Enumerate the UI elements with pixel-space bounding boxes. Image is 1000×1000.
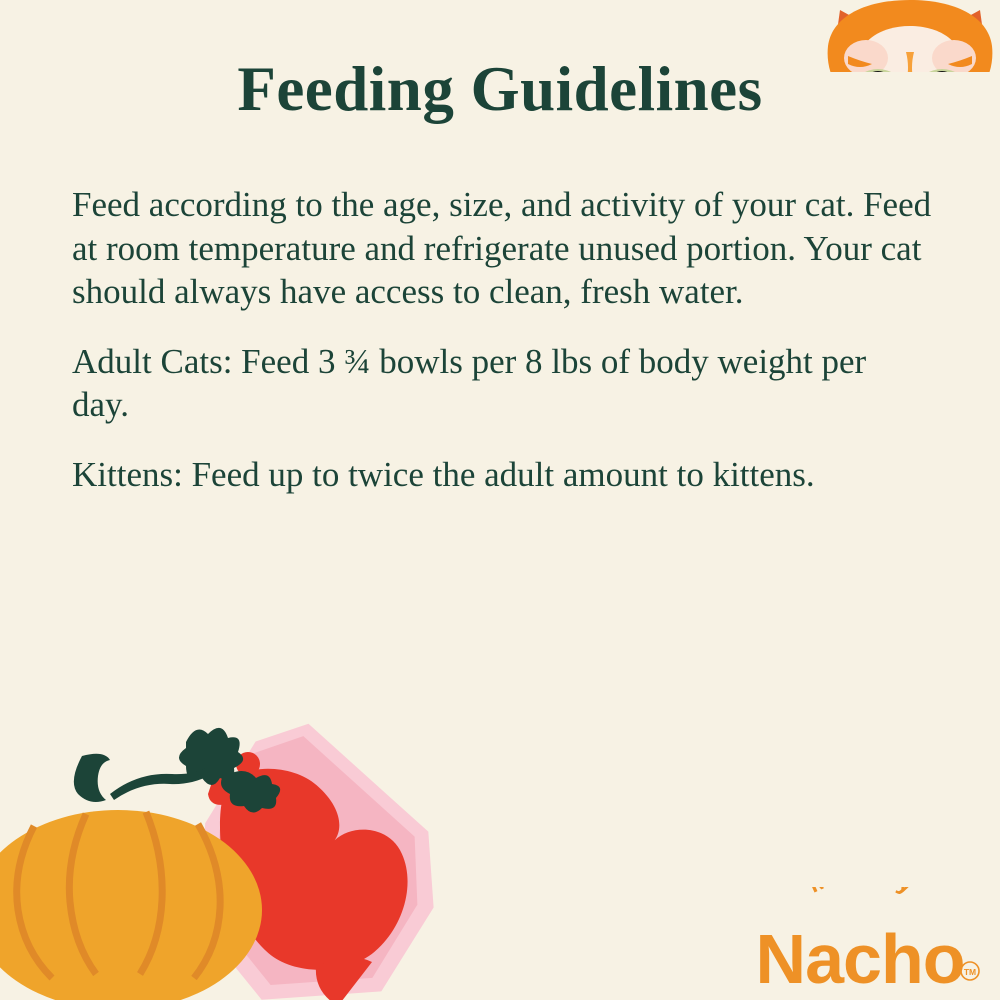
- pumpkin-steak-cranberry-icon: [0, 720, 500, 1000]
- cat-face-icon: [820, 0, 1000, 72]
- food-illustration: [0, 720, 500, 1000]
- logo-tagline: Made by: [804, 887, 919, 899]
- paragraph-general-feeding: Feed according to the age, size, and act…: [72, 183, 932, 314]
- feeding-instructions-block: Feed according to the age, size, and act…: [72, 183, 944, 496]
- logo-wordmark: Nacho: [756, 920, 965, 992]
- paragraph-kittens: Kittens: Feed up to twice the adult amou…: [72, 453, 962, 497]
- made-by-nacho-logo: Made by Nacho TM: [742, 887, 982, 992]
- feeding-guidelines-page: Feeding Guidelines Feed according to the…: [0, 0, 1000, 1000]
- herb-stem: [110, 768, 210, 800]
- pumpkin-stem: [74, 754, 110, 802]
- brand-logo: Made by Nacho TM: [742, 887, 982, 992]
- paragraph-adult-cats: Adult Cats: Feed 3 ¾ bowls per 8 lbs of …: [72, 340, 922, 427]
- trademark-label: TM: [964, 967, 976, 977]
- cat-face-illustration: [820, 0, 1000, 72]
